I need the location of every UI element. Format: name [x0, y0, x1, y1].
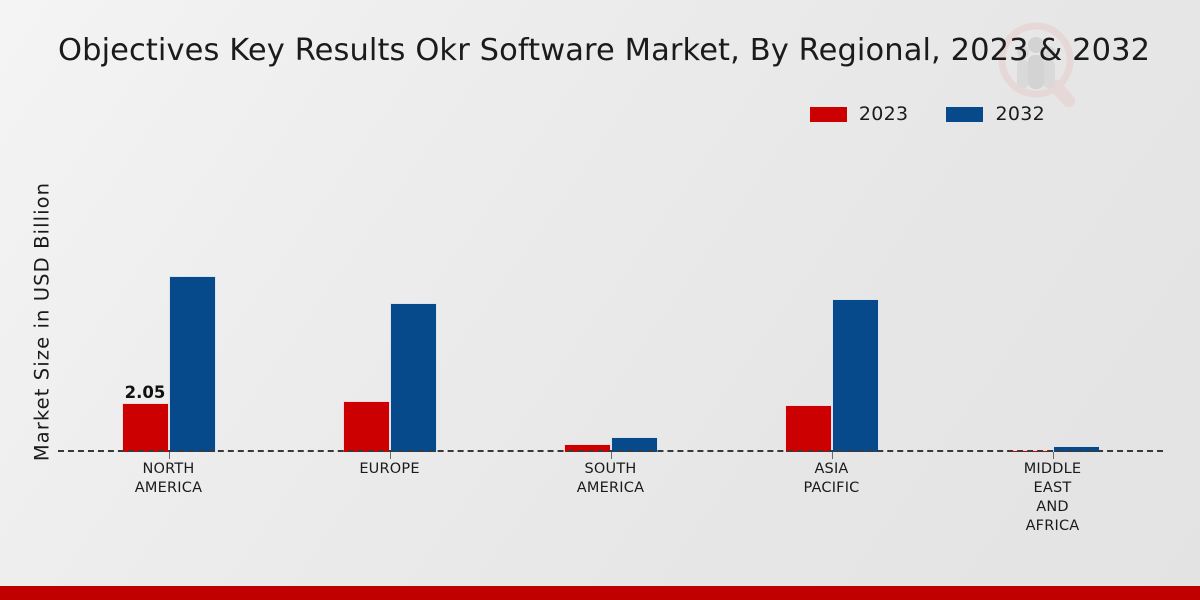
category-label-europe: EUROPE: [359, 460, 419, 479]
legend-label-2032: 2032: [995, 103, 1045, 125]
axis-tick: [611, 452, 612, 459]
legend-label-2023: 2023: [859, 103, 909, 125]
bar-2032-asia-pacific[interactable]: [832, 299, 879, 452]
legend-item-2023[interactable]: 2023: [810, 103, 909, 125]
x-axis-baseline: [58, 450, 1163, 452]
bar-group-middle-east-and-africa: MIDDLE EAST AND AFRICA: [942, 150, 1163, 452]
chart-title: Objectives Key Results Okr Software Mark…: [58, 33, 1138, 68]
axis-tick: [390, 452, 391, 459]
axis-tick: [169, 452, 170, 459]
bar-group-south-america: SOUTH AMERICA: [500, 150, 721, 452]
legend-swatch-2032-icon: [946, 107, 983, 122]
category-label-north-america: NORTH AMERICA: [135, 460, 202, 498]
bar-2023-north-america[interactable]: 2.05: [122, 403, 169, 452]
bar-group-north-america: 2.05 NORTH AMERICA: [58, 150, 279, 452]
axis-tick: [1053, 452, 1054, 459]
bar-group-europe: EUROPE: [279, 150, 500, 452]
bar-2032-north-america[interactable]: [169, 276, 216, 452]
category-label-middle-east-and-africa: MIDDLE EAST AND AFRICA: [1024, 460, 1082, 536]
bar-2023-europe[interactable]: [343, 401, 390, 452]
bar-value-2023-north-america: 2.05: [125, 383, 166, 402]
chart-legend: 2023 2032: [810, 103, 1045, 125]
bar-group-asia-pacific: ASIA PACIFIC: [721, 150, 942, 452]
category-label-asia-pacific: ASIA PACIFIC: [803, 460, 859, 498]
axis-tick: [832, 452, 833, 459]
y-axis-title: Market Size in USD Billion: [31, 132, 54, 512]
plot-area: 2.05 NORTH AMERICA EUROPE SOUTH AMERICA: [58, 150, 1163, 452]
bar-2032-europe[interactable]: [390, 303, 437, 452]
bar-2023-asia-pacific[interactable]: [785, 405, 832, 452]
legend-item-2032[interactable]: 2032: [946, 103, 1045, 125]
infographic-canvas: Objectives Key Results Okr Software Mark…: [0, 0, 1200, 600]
category-label-south-america: SOUTH AMERICA: [577, 460, 644, 498]
footer-accent-bar: [0, 586, 1200, 600]
legend-swatch-2023-icon: [810, 107, 847, 122]
bar-groups: 2.05 NORTH AMERICA EUROPE SOUTH AMERICA: [58, 150, 1163, 452]
